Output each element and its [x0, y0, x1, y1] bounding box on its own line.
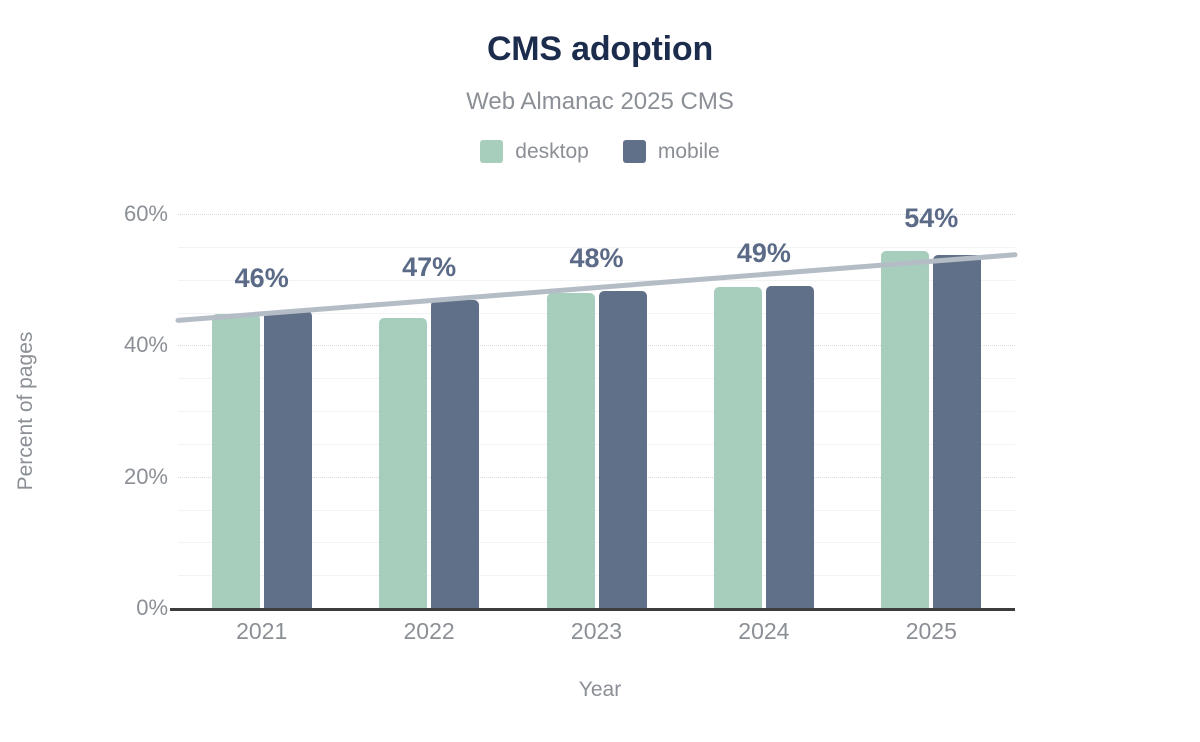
x-tick-label-2022: 2022: [349, 618, 509, 645]
x-axis-title: Year: [0, 678, 1200, 702]
bar-desktop-2022[interactable]: [379, 318, 427, 608]
y-axis-title: Percent of pages: [14, 332, 38, 491]
legend-label-mobile: mobile: [658, 141, 720, 162]
x-tick-label-2023: 2023: [517, 618, 677, 645]
legend-swatch-mobile: [623, 140, 646, 163]
y-tick-label: 0%: [48, 595, 168, 621]
legend-item-mobile[interactable]: mobile: [623, 140, 720, 163]
data-label-2021: 46%: [172, 263, 352, 294]
chart-title: CMS adoption: [0, 30, 1200, 69]
cms-adoption-chart: CMS adoption Web Almanac 2025 CMS deskto…: [0, 0, 1200, 742]
x-axis-baseline: [170, 608, 1015, 611]
legend-swatch-desktop: [480, 140, 503, 163]
bar-mobile-2024[interactable]: [766, 286, 814, 608]
y-tick-label: 60%: [48, 201, 168, 227]
legend-item-desktop[interactable]: desktop: [480, 140, 589, 163]
legend-label-desktop: desktop: [515, 141, 589, 162]
bar-mobile-2025[interactable]: [933, 255, 981, 608]
bar-desktop-2023[interactable]: [547, 293, 595, 608]
chart-subtitle: Web Almanac 2025 CMS: [0, 88, 1200, 116]
y-tick-label: 40%: [48, 332, 168, 358]
bar-desktop-2021[interactable]: [212, 314, 260, 608]
data-label-2023: 48%: [507, 243, 687, 274]
bar-mobile-2022[interactable]: [431, 300, 479, 608]
data-label-2025: 54%: [841, 203, 1021, 234]
bar-mobile-2023[interactable]: [599, 291, 647, 608]
chart-legend: desktop mobile: [0, 140, 1200, 163]
bar-desktop-2024[interactable]: [714, 287, 762, 608]
bar-desktop-2025[interactable]: [881, 251, 929, 608]
data-label-2022: 47%: [339, 252, 519, 283]
y-tick-label: 20%: [48, 464, 168, 490]
x-tick-label-2025: 2025: [851, 618, 1011, 645]
data-label-2024: 49%: [674, 238, 854, 269]
x-tick-label-2024: 2024: [684, 618, 844, 645]
bar-mobile-2021[interactable]: [264, 311, 312, 608]
x-tick-label-2021: 2021: [182, 618, 342, 645]
